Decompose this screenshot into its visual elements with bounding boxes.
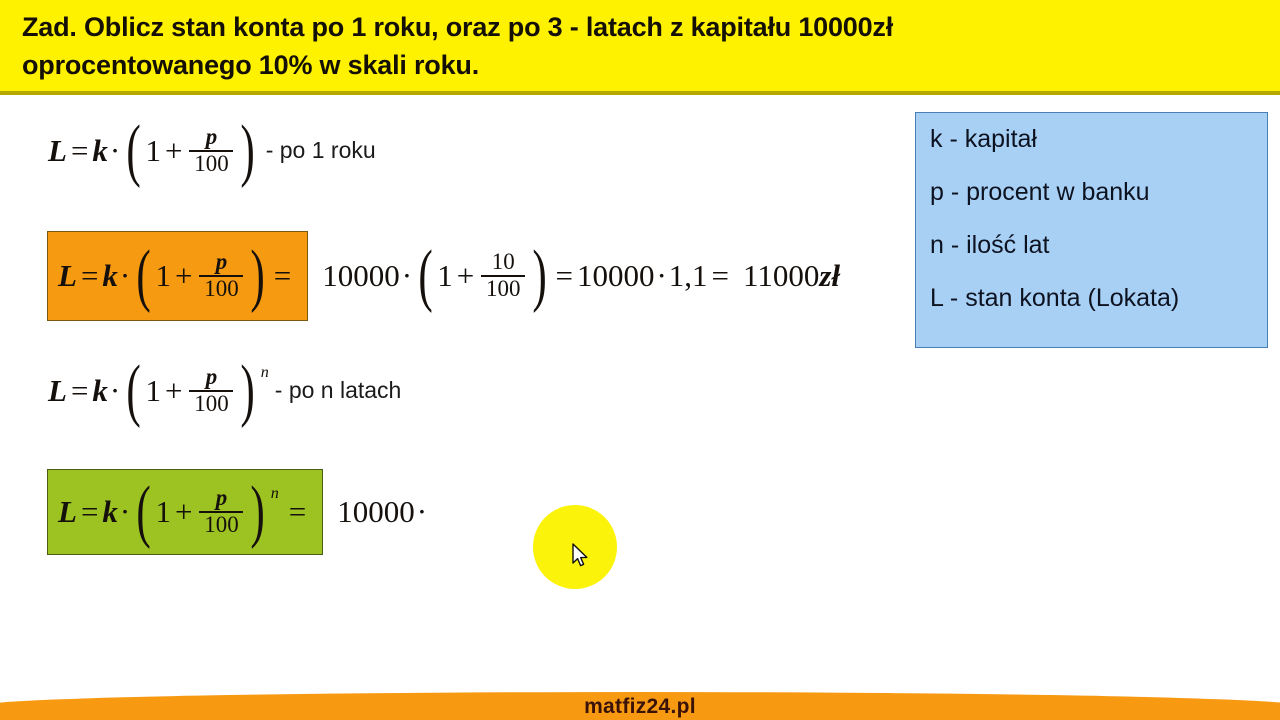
paren-open: ( — [127, 122, 141, 179]
number-one: 1 — [145, 133, 161, 169]
formula-row-orange: L = k · ( 1 + p 100 ) = 10000 · ( 1 + 10 — [47, 231, 840, 321]
capital-value: 10000 — [322, 258, 400, 294]
paren-close: ) — [251, 483, 265, 540]
formula-one-year: L = k · ( 1 + p 100 ) — [48, 122, 260, 179]
multiplication-dot: · — [118, 258, 132, 294]
product-capital: 10000 — [577, 258, 655, 294]
fraction-numerator: p — [203, 366, 220, 390]
number-one: 1 — [155, 258, 171, 294]
equals-sign-2: = — [708, 258, 733, 294]
exponent-n: n — [271, 485, 279, 503]
title-line-2: oprocentowanego 10% w skali roku. — [22, 46, 1262, 84]
fraction-numerator: p — [213, 251, 230, 275]
multiplication-dot-2: · — [654, 258, 668, 294]
multiplication-dot: · — [415, 494, 429, 530]
fraction-denominator: 100 — [191, 152, 231, 176]
trailing-equals-sign: = — [285, 494, 310, 530]
equals-sign-1: = — [551, 258, 576, 294]
fraction-denominator: 100 — [191, 392, 231, 416]
annotation-one-year: - po 1 roku — [266, 137, 376, 164]
fraction-numerator: p — [213, 487, 230, 511]
symbol-L: L — [48, 133, 67, 169]
multiplication-dot: · — [118, 494, 132, 530]
fraction-10-over-100: 10 100 — [481, 251, 525, 301]
paren-close: ) — [241, 122, 255, 179]
parenthesized-group: ( 1 + p 100 ) — [132, 247, 269, 304]
plus-sign: + — [171, 258, 196, 294]
multiplication-dot: · — [108, 373, 122, 409]
fraction-p-over-100: p 100 — [189, 366, 233, 416]
paren-open: ( — [137, 247, 151, 304]
formula-row-green: L = k · ( 1 + p 100 ) n = 10000 · — [47, 469, 429, 555]
header-banner: Zad. Oblicz stan konta po 1 roku, oraz p… — [0, 0, 1280, 95]
symbol-k: k — [102, 258, 118, 294]
symbol-L: L — [58, 494, 77, 530]
capital-value: 10000 — [337, 494, 415, 530]
number-one: 1 — [437, 258, 453, 294]
fraction-denominator: 100 — [201, 513, 241, 537]
orange-result-expression: 10000 · ( 1 + 10 100 ) = 10000 · 1,1 = 1… — [322, 247, 840, 304]
paren-close: ) — [533, 247, 547, 304]
parenthesized-group: ( 1 + p 100 ) — [122, 122, 259, 179]
formula-row-n-years: L = k · ( 1 + p 100 ) n - po n latach — [48, 362, 401, 419]
trailing-equals-sign: = — [270, 258, 295, 294]
plus-sign: + — [171, 494, 196, 530]
fraction-denominator: 100 — [201, 277, 241, 301]
parenthesized-group: ( 1 + p 100 ) n — [122, 362, 269, 419]
number-one: 1 — [145, 373, 161, 409]
fraction-p-over-100: p 100 — [189, 126, 233, 176]
number-one: 1 — [155, 494, 171, 530]
multiplication-dot: · — [108, 133, 122, 169]
title-line-1: Zad. Oblicz stan konta po 1 roku, oraz p… — [22, 8, 1262, 46]
paren-close: ) — [241, 362, 255, 419]
final-amount: 11000 — [743, 258, 819, 294]
plus-sign: + — [453, 258, 478, 294]
fraction-denominator: 100 — [483, 277, 523, 301]
fraction-numerator: 10 — [489, 251, 518, 275]
paren-open: ( — [127, 362, 141, 419]
plus-sign: + — [161, 373, 186, 409]
symbol-L: L — [48, 373, 67, 409]
legend-box: k - kapitał p - procent w banku n - iloś… — [915, 112, 1268, 348]
annotation-n-years: - po n latach — [275, 377, 402, 404]
equals-sign: = — [77, 258, 102, 294]
green-highlight-box: L = k · ( 1 + p 100 ) n = — [47, 469, 323, 555]
page-title: Zad. Oblicz stan konta po 1 roku, oraz p… — [22, 8, 1262, 84]
exponent-n: n — [261, 364, 269, 382]
symbol-k: k — [92, 373, 108, 409]
symbol-k: k — [92, 133, 108, 169]
orange-highlight-box: L = k · ( 1 + p 100 ) = — [47, 231, 308, 321]
paren-open: ( — [137, 483, 151, 540]
paren-close: ) — [251, 247, 265, 304]
mouse-pointer-icon — [572, 543, 590, 569]
symbol-L: L — [58, 258, 77, 294]
legend-item-n: n - ilość lat — [930, 233, 1267, 258]
parenthesized-group: ( 1 + 10 100 ) — [414, 247, 551, 304]
growth-factor: 1,1 — [669, 258, 708, 294]
legend-item-k: k - kapitał — [930, 127, 1267, 152]
fraction-p-over-100: p 100 — [199, 251, 243, 301]
legend-item-L: L - stan konta (Lokata) — [930, 286, 1267, 311]
parenthesized-group: ( 1 + p 100 ) n — [132, 483, 279, 540]
multiplication-dot: · — [400, 258, 414, 294]
equals-sign: = — [67, 373, 92, 409]
fraction-numerator: p — [203, 126, 220, 150]
symbol-k: k — [102, 494, 118, 530]
footer-site-label: matfiz24.pl — [0, 695, 1280, 719]
formula-n-years: L = k · ( 1 + p 100 ) n — [48, 362, 269, 419]
paren-open: ( — [418, 247, 432, 304]
green-result-expression: 10000 · — [337, 494, 429, 530]
currency-unit: zł — [819, 258, 840, 294]
fraction-p-over-100: p 100 — [199, 487, 243, 537]
formula-row-one-year: L = k · ( 1 + p 100 ) - po 1 roku — [48, 122, 376, 179]
legend-item-p: p - procent w banku — [930, 180, 1267, 205]
equals-sign: = — [77, 494, 102, 530]
plus-sign: + — [161, 133, 186, 169]
equals-sign: = — [67, 133, 92, 169]
